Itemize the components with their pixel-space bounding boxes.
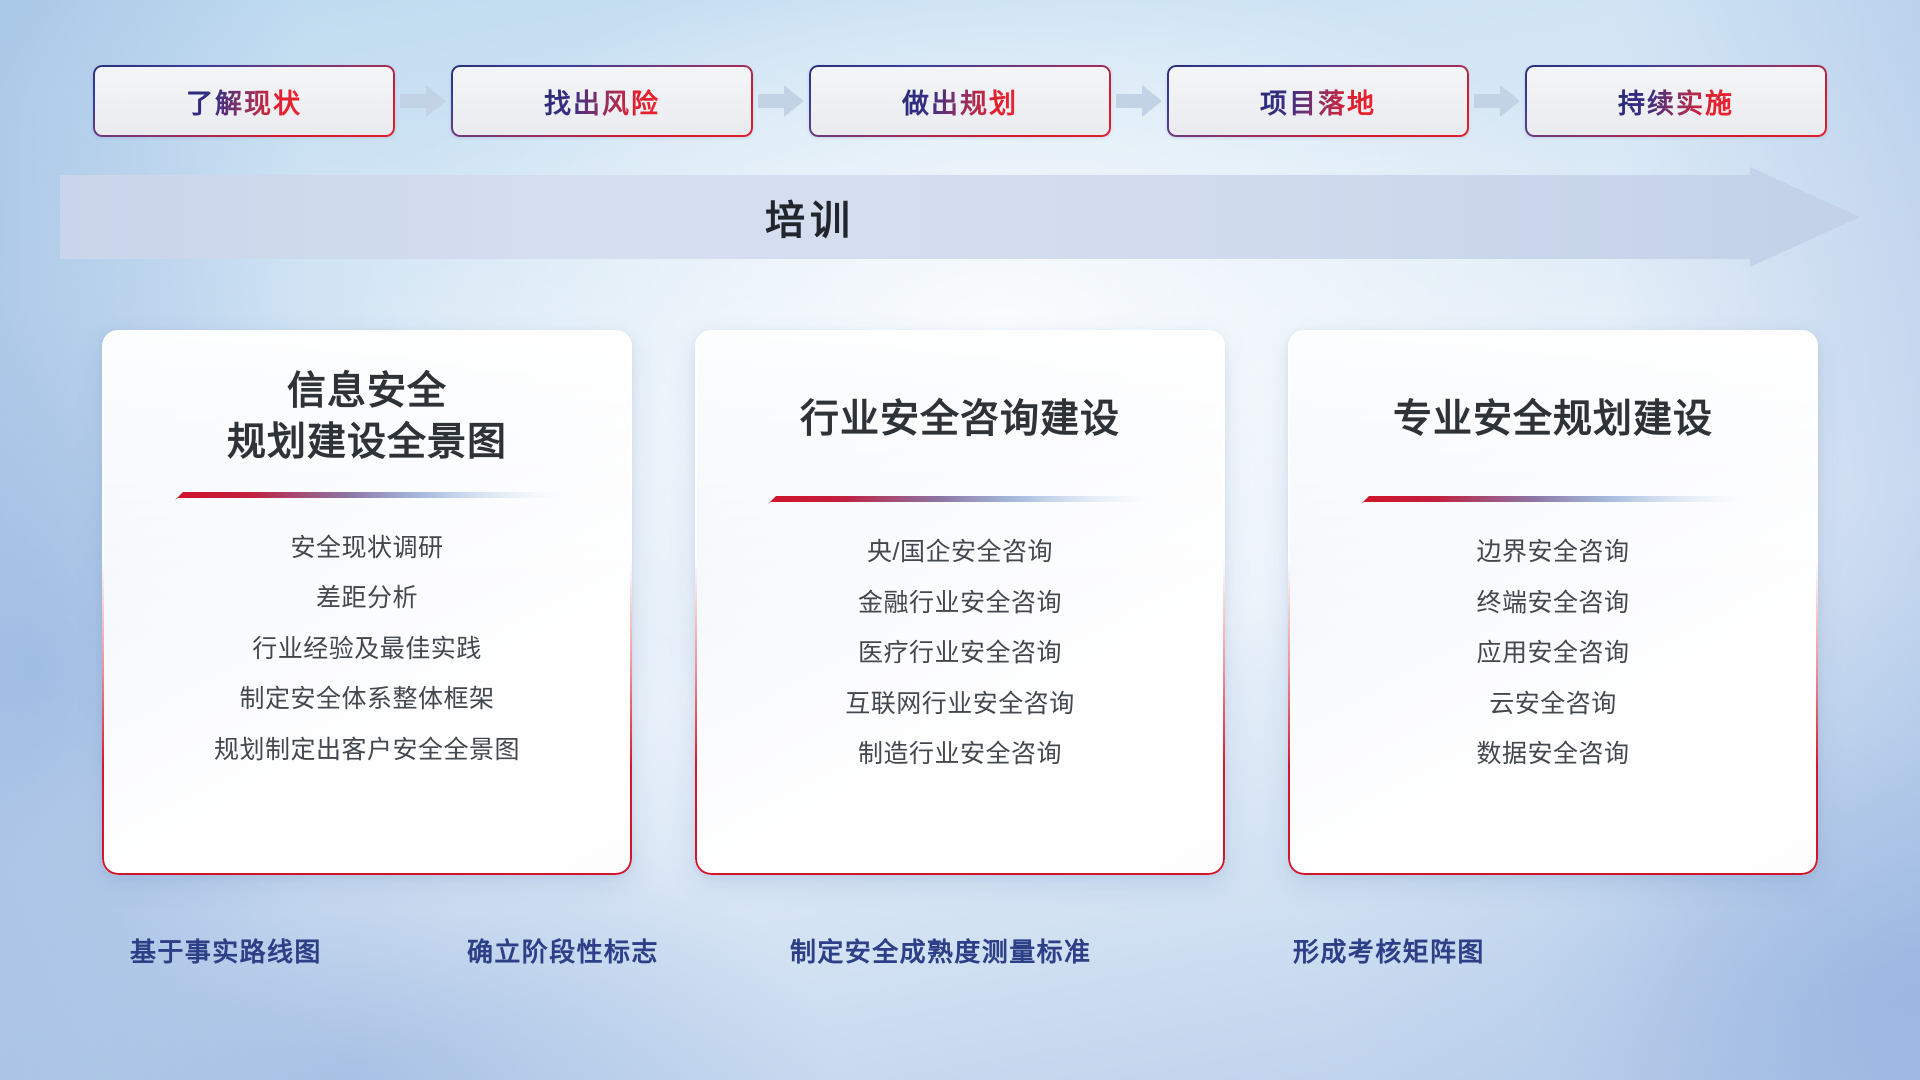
card-title-line-2: 规划建设全景图 xyxy=(227,421,507,464)
card-industry-security-consulting[interactable]: 行业安全咨询建设 xyxy=(695,330,1225,875)
step-box-3[interactable]: 做出规划 xyxy=(809,65,1111,137)
card-title-line-1: 信息安全 xyxy=(287,370,447,413)
list-item: 应用安全咨询 xyxy=(1476,633,1629,674)
step-label-3: 做出规划 xyxy=(902,82,1018,121)
card-row: 信息安全规划建设全景图 xyxy=(0,330,1920,890)
step-box-4[interactable]: 项目落地 xyxy=(1167,65,1469,137)
list-item: 制定安全体系整体框架 xyxy=(239,679,494,720)
list-item: 行业经验及最佳实践 xyxy=(252,629,482,670)
card-list-1: 安全现状调研 差距分析 行业经验及最佳实践 制定安全体系整体框架 规划制定出客户… xyxy=(102,528,632,771)
card-divider-2 xyxy=(768,493,1153,506)
training-banner: 培训 xyxy=(60,167,1860,267)
caption-2: 确立阶段性标志 xyxy=(467,932,659,969)
list-item: 终端安全咨询 xyxy=(1476,583,1629,624)
list-item: 云安全咨询 xyxy=(1489,684,1617,725)
card-title-2: 行业安全咨询建设 xyxy=(782,394,1138,445)
list-item: 互联网行业安全咨询 xyxy=(845,684,1075,725)
list-item: 央/国企安全咨询 xyxy=(867,532,1053,573)
card-list-3: 边界安全咨询 终端安全咨询 应用安全咨询 云安全咨询 数据安全咨询 xyxy=(1288,532,1818,775)
card-list-2: 央/国企安全咨询 金融行业安全咨询 医疗行业安全咨询 互联网行业安全咨询 制造行… xyxy=(695,532,1225,775)
list-item: 差距分析 xyxy=(316,578,418,619)
banner-title: 培训 xyxy=(60,167,1560,267)
card-information-security[interactable]: 信息安全规划建设全景图 xyxy=(102,330,632,875)
card-divider-1 xyxy=(175,489,560,502)
step-box-5[interactable]: 持续实施 xyxy=(1525,65,1827,137)
list-item: 制造行业安全咨询 xyxy=(858,734,1062,775)
list-item: 医疗行业安全咨询 xyxy=(858,633,1062,674)
caption-row: 基于事实路线图 确立阶段性标志 制定安全成熟度测量标准 形成考核矩阵图 xyxy=(0,932,1920,978)
step-label-2: 找出风险 xyxy=(544,82,660,121)
caption-3: 制定安全成熟度测量标准 xyxy=(790,932,1091,969)
right-arrow-icon xyxy=(1469,65,1525,137)
list-item: 边界安全咨询 xyxy=(1476,532,1629,573)
card-title-3: 专业安全规划建设 xyxy=(1375,394,1731,445)
list-item: 规划制定出客户安全全景图 xyxy=(214,730,520,771)
right-arrow-icon xyxy=(753,65,809,137)
step-label-5: 持续实施 xyxy=(1618,82,1734,121)
step-label-4: 项目落地 xyxy=(1260,82,1376,121)
caption-1: 基于事实路线图 xyxy=(130,932,322,969)
card-professional-security-planning[interactable]: 专业安全规划建设 xyxy=(1288,330,1818,875)
card-divider-3 xyxy=(1361,493,1746,506)
step-box-1[interactable]: 了解现状 xyxy=(93,65,395,137)
process-step-row: 了解现状 找出风险 做出规划 项目落地 持续实施 xyxy=(0,62,1920,140)
right-arrow-icon xyxy=(395,65,451,137)
list-item: 数据安全咨询 xyxy=(1476,734,1629,775)
card-title-1: 信息安全规划建设全景图 xyxy=(209,366,525,469)
list-item: 安全现状调研 xyxy=(290,528,443,569)
list-item: 金融行业安全咨询 xyxy=(858,583,1062,624)
step-box-2[interactable]: 找出风险 xyxy=(451,65,753,137)
right-arrow-icon xyxy=(1111,65,1167,137)
step-label-1: 了解现状 xyxy=(186,82,302,121)
caption-4: 形成考核矩阵图 xyxy=(1293,932,1485,969)
